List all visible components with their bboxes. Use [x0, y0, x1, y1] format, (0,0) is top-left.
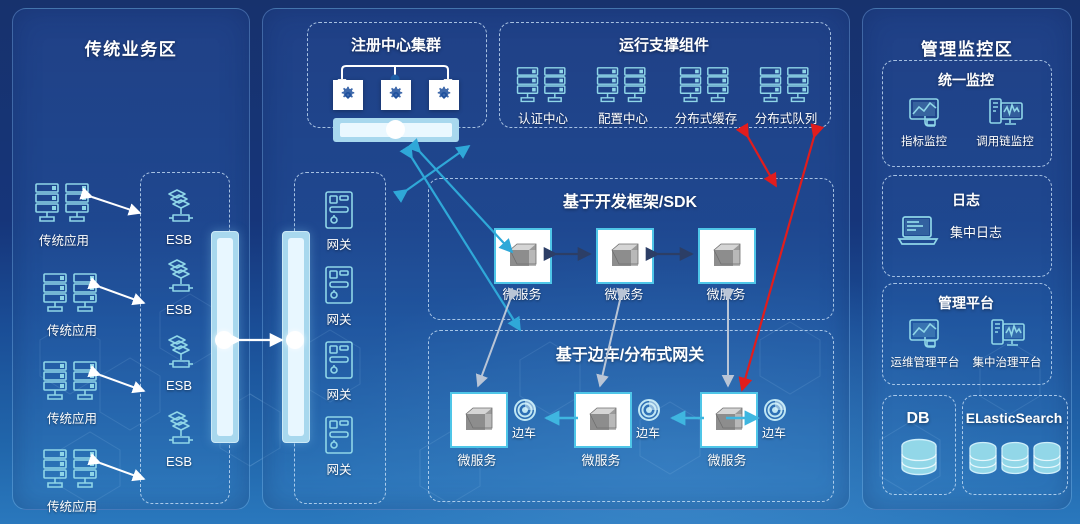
registry-bus-knob[interactable]: [386, 120, 405, 139]
gateway-icon: [322, 415, 356, 457]
monitor-wave-icon: [990, 318, 1026, 350]
diagram-canvas: 传统业务区 传统应用 传统应用: [0, 0, 1080, 524]
legacy-app-label: 传统应用: [30, 496, 114, 515]
logging-title: 日志: [882, 190, 1050, 210]
gateway-icon: [322, 190, 356, 232]
sidecar-label: 边车: [748, 424, 800, 441]
esb-label: ESB: [148, 378, 210, 393]
monitoring-item-label: 指标监控: [886, 133, 962, 149]
server-rack-icon: [595, 66, 651, 106]
esb-icon: [159, 188, 199, 230]
page-title-management: 管理监控区: [863, 35, 1071, 60]
gateway-label: 网关: [306, 459, 372, 478]
gear-icon: [387, 86, 405, 104]
server-rack-icon: [42, 448, 102, 492]
esb-icon: [159, 258, 199, 300]
cube-icon: [462, 404, 496, 436]
registry-node-3[interactable]: [429, 80, 459, 110]
sidecar-spiral-icon: [513, 398, 537, 422]
esb-label: ESB: [148, 454, 210, 469]
monitor-wave-icon: [988, 97, 1024, 129]
management-platform-title: 管理平台: [882, 293, 1050, 313]
sdk-service-label: 微服务: [490, 284, 554, 303]
server-rack-icon: [34, 182, 94, 226]
elasticsearch-title: ELasticSearch: [960, 410, 1068, 426]
registry-cluster-title: 注册中心集群: [307, 34, 485, 55]
tablet-chart-icon: [908, 97, 942, 129]
registry-node-1[interactable]: [333, 80, 363, 110]
cube-icon: [586, 404, 620, 436]
cube-icon: [608, 240, 642, 272]
sdk-group-title: 基于开发框架/SDK: [428, 188, 832, 212]
microservice-box: [494, 228, 552, 284]
gateway-label: 网关: [306, 234, 372, 253]
server-rack-icon: [42, 272, 102, 316]
logging-item-1[interactable]: 集中日志: [896, 214, 1038, 248]
legacy-app-label: 传统应用: [22, 230, 106, 249]
sidecar-service-label: 微服务: [446, 450, 508, 469]
gateway-label: 网关: [306, 384, 372, 403]
sidecar-label: 边车: [622, 424, 674, 441]
tablet-chart-icon: [908, 318, 942, 350]
runtime-item-label: 分布式缓存: [665, 108, 747, 127]
logging-item-label: 集中日志: [950, 222, 1002, 241]
page-title-legacy: 传统业务区: [13, 35, 249, 60]
server-rack-icon: [758, 66, 814, 106]
legacy-app-label: 传统应用: [30, 408, 114, 427]
sdk-service-label: 微服务: [694, 284, 758, 303]
platform-item-label: 运维管理平台: [884, 354, 966, 370]
laptop-icon: [896, 214, 940, 248]
platform-item-label: 集中治理平台: [966, 354, 1048, 370]
gateway-icon: [322, 340, 356, 382]
gear-icon: [435, 86, 453, 104]
database-cylinder-icon: [968, 440, 1062, 484]
cube-icon: [710, 240, 744, 272]
cube-icon: [712, 404, 746, 436]
server-rack-icon: [515, 66, 571, 106]
esb-icon: [159, 334, 199, 376]
registry-node-2[interactable]: [381, 80, 411, 110]
sidecar-spiral-icon: [637, 398, 661, 422]
gateway-icon: [322, 265, 356, 307]
unified-monitoring-title: 统一监控: [882, 70, 1050, 90]
sidecar-label: 边车: [498, 424, 550, 441]
gear-icon: [339, 86, 357, 104]
esb-label: ESB: [148, 232, 210, 247]
sidecar-service-label: 微服务: [696, 450, 758, 469]
server-rack-icon: [42, 360, 102, 404]
sidecar-service-label: 微服务: [570, 450, 632, 469]
sdk-service-label: 微服务: [592, 284, 656, 303]
sidecar-spiral-icon: [763, 398, 787, 422]
microservice-box: [698, 228, 756, 284]
bus-knob-left[interactable]: [215, 331, 233, 349]
esb-label: ESB: [148, 302, 210, 317]
gateway-label: 网关: [306, 309, 372, 328]
db-title: DB: [882, 410, 954, 428]
cube-icon: [506, 240, 540, 272]
monitoring-item-label: 调用链监控: [964, 133, 1046, 149]
runtime-components-title: 运行支撑组件: [499, 34, 829, 55]
database-cylinder-icon: [898, 437, 940, 483]
bus-knob-right[interactable]: [286, 331, 304, 349]
microservice-box: [596, 228, 654, 284]
server-rack-icon: [678, 66, 734, 106]
runtime-item-label: 认证中心: [505, 108, 581, 127]
esb-icon: [159, 410, 199, 452]
runtime-item-label: 配置中心: [585, 108, 661, 127]
legacy-app-label: 传统应用: [30, 320, 114, 339]
runtime-item-label: 分布式队列: [745, 108, 827, 127]
sidecar-group-title: 基于边车/分布式网关: [428, 341, 832, 365]
